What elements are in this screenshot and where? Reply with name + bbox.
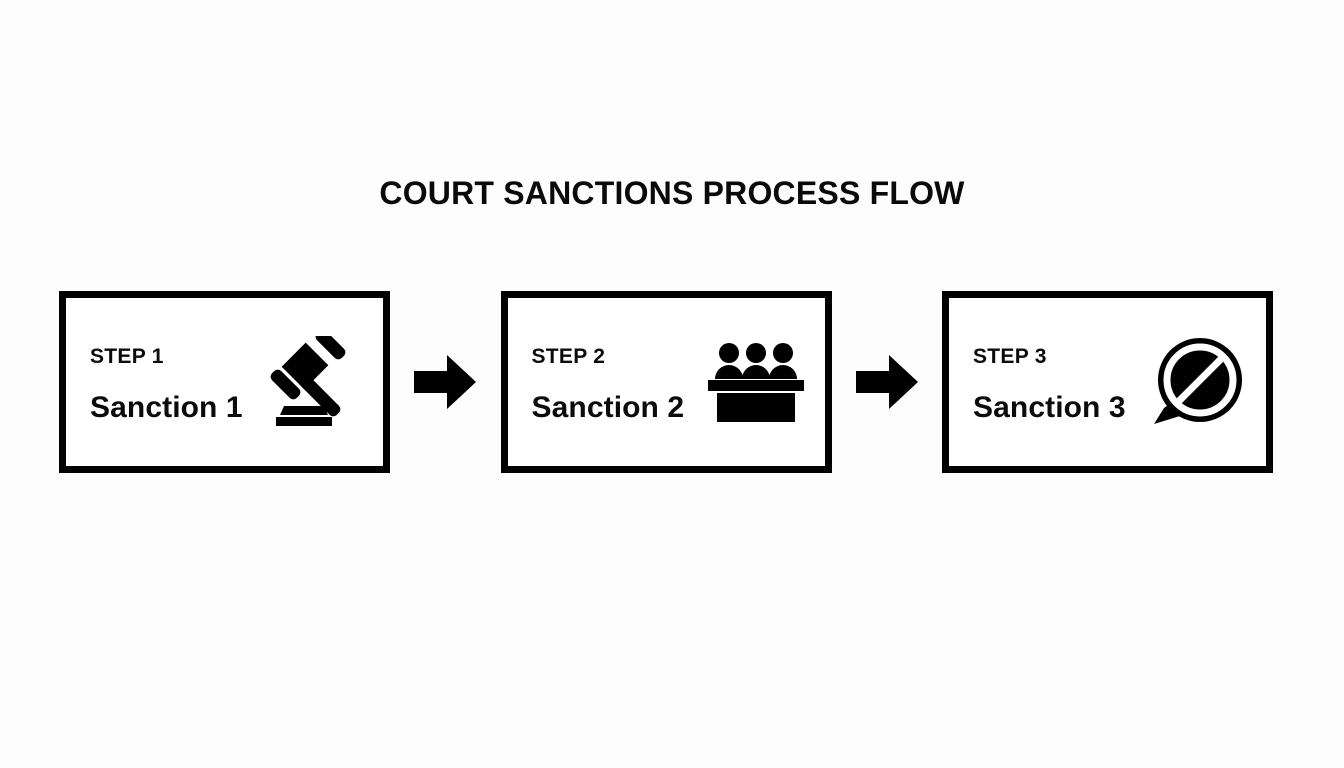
page-title: COURT SANCTIONS PROCESS FLOW bbox=[0, 176, 1344, 211]
step-1-text-group: STEP 1 Sanction 1 bbox=[66, 298, 259, 466]
step-box-1[interactable]: STEP 1 Sanction 1 bbox=[59, 291, 390, 473]
jury-panel-icon bbox=[708, 342, 804, 422]
step-2-label: STEP 2 bbox=[532, 346, 701, 367]
step-1-label: STEP 1 bbox=[90, 346, 259, 367]
connector-2 bbox=[832, 291, 943, 473]
step-2-text-group: STEP 2 Sanction 2 bbox=[508, 298, 701, 466]
step-1-icon-slot bbox=[259, 298, 383, 466]
diagram-canvas: COURT SANCTIONS PROCESS FLOW STEP 1 Sanc… bbox=[0, 0, 1344, 768]
step-1-name: Sanction 1 bbox=[90, 393, 259, 423]
step-box-3[interactable]: STEP 3 Sanction 3 bbox=[942, 291, 1273, 473]
arrow-right-icon bbox=[856, 355, 918, 409]
step-2-icon-slot bbox=[701, 298, 825, 466]
step-3-label: STEP 3 bbox=[973, 346, 1142, 367]
arrow-right-icon bbox=[414, 355, 476, 409]
gavel-icon bbox=[262, 336, 366, 428]
prohibited-speech-bubble-icon bbox=[1150, 336, 1244, 428]
step-3-icon-slot bbox=[1142, 298, 1266, 466]
connector-1 bbox=[390, 291, 501, 473]
process-flow-row: STEP 1 Sanction 1 bbox=[59, 291, 1273, 473]
step-2-name: Sanction 2 bbox=[532, 393, 701, 423]
step-3-text-group: STEP 3 Sanction 3 bbox=[949, 298, 1142, 466]
step-3-name: Sanction 3 bbox=[973, 393, 1142, 423]
step-box-2[interactable]: STEP 2 Sanction 2 bbox=[501, 291, 832, 473]
